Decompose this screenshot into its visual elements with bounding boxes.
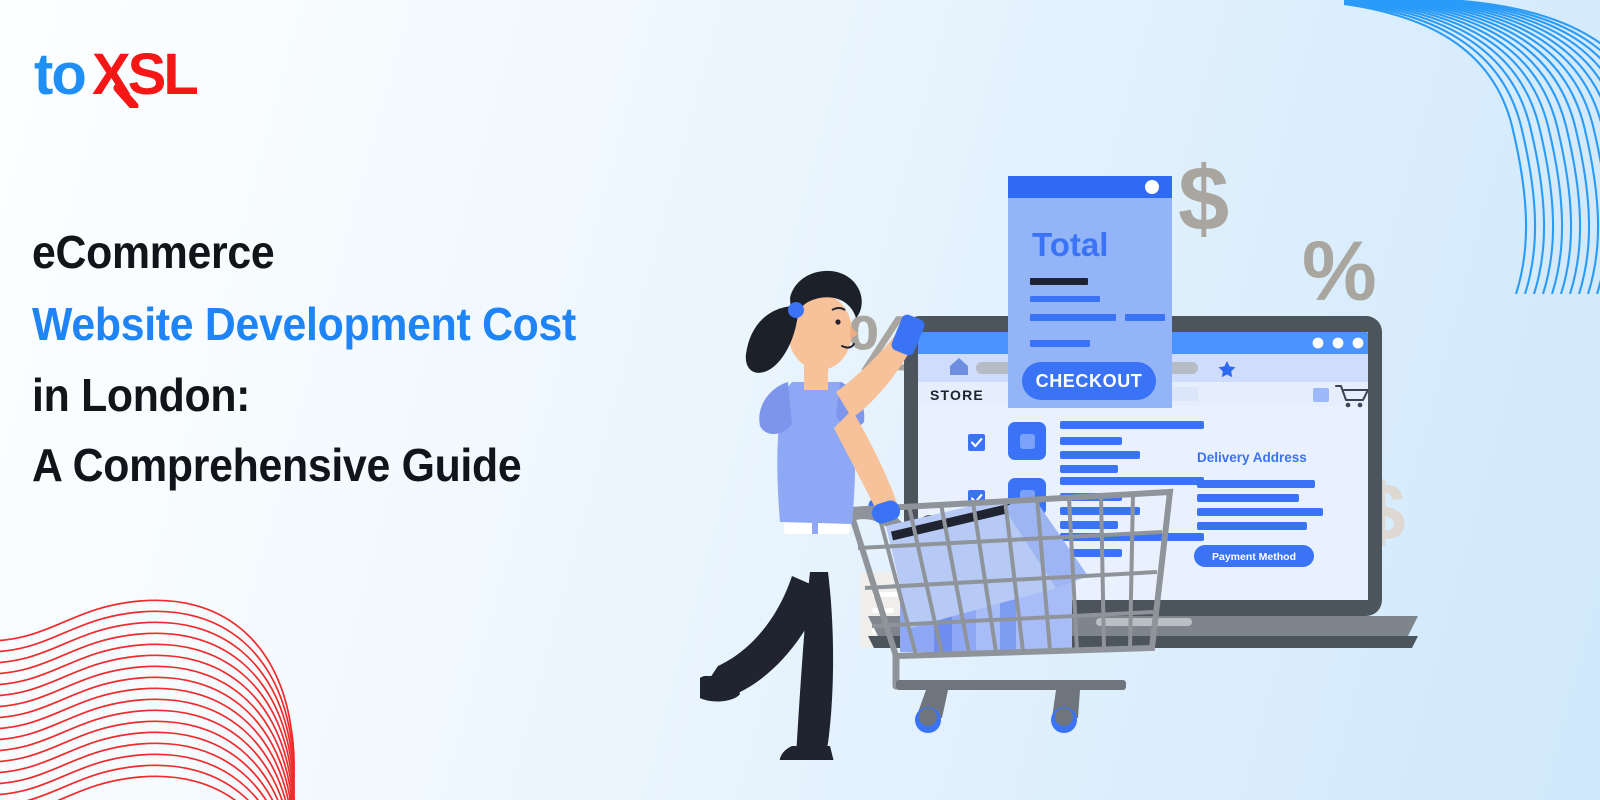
character-back-shoe: [700, 676, 740, 701]
percent-symbol-right: %: [1302, 224, 1377, 318]
character-ponytail: [746, 306, 798, 373]
window-dot-2[interactable]: [1333, 338, 1344, 349]
store-label: STORE: [930, 387, 984, 403]
delivery-address-heading: Delivery Address: [1197, 450, 1307, 465]
character-front-shoe: [780, 746, 834, 760]
checkout-label: CHECKOUT: [1036, 371, 1143, 391]
dollar-symbol-top-right: $: [1178, 148, 1229, 250]
character-eye: [835, 319, 840, 324]
cart-count-chip: [1313, 388, 1329, 402]
logo-text-secondary: XSL: [92, 44, 197, 107]
window-dot-1[interactable]: [1313, 338, 1324, 349]
headline-line-3: in London:: [32, 360, 702, 430]
hair-tie: [788, 302, 804, 318]
payment-method-label: Payment Method: [1212, 551, 1296, 563]
page-title: eCommerce Website Development Cost in Lo…: [32, 216, 702, 500]
phone-camera-dot: [1145, 180, 1159, 194]
logo-text-primary: to: [34, 44, 85, 107]
headline-line-2: Website Development Cost: [32, 288, 702, 360]
decorative-waves-bottom-left: [0, 571, 340, 800]
toxsl-logo[interactable]: to XSL: [34, 44, 234, 108]
checkout-button[interactable]: CHECKOUT: [1022, 362, 1156, 400]
ecommerce-illustration: $ % % $: [700, 120, 1460, 760]
window-dot-3[interactable]: [1353, 338, 1364, 349]
total-heading: Total: [1032, 226, 1108, 263]
trackpad-notch: [1096, 618, 1192, 626]
checkbox-checked[interactable]: [968, 434, 985, 451]
headline-line-4: A Comprehensive Guide: [32, 430, 702, 500]
character-woman-with-phone: [700, 271, 926, 760]
banner-canvas: to XSL eCommerce Website Development Cos…: [0, 0, 1600, 800]
phone-receipt-card: Total CHECKOUT: [1008, 176, 1172, 408]
payment-method-button[interactable]: Payment Method: [1194, 545, 1314, 567]
headline-line-1: eCommerce: [32, 216, 702, 288]
character-sleeve-left: [759, 382, 792, 434]
